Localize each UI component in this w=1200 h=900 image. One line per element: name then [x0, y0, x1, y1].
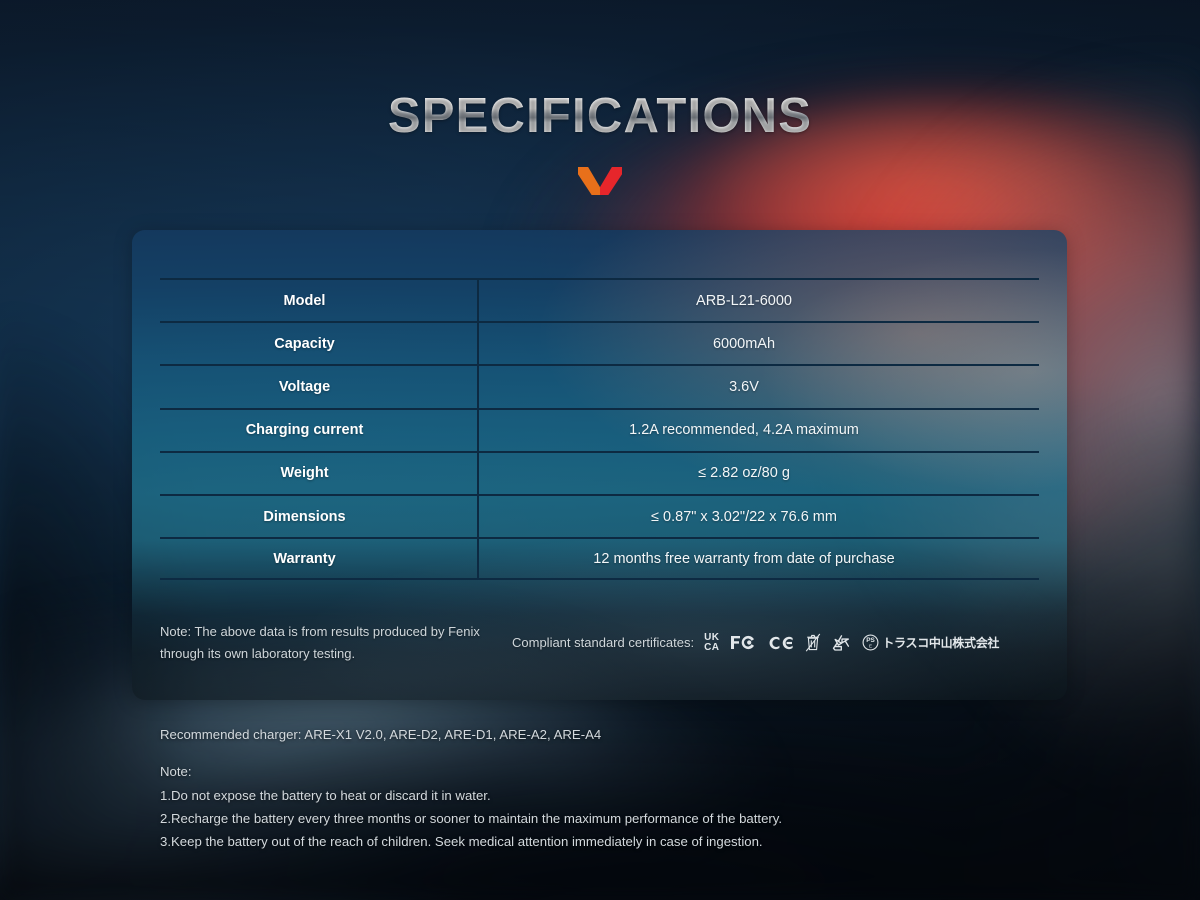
pse-trusco-group: PS E トラスコ中山株式会社 [862, 634, 999, 651]
specifications-table: Model ARB-L21-6000 Capacity 6000mAh Volt… [160, 278, 1039, 580]
note-line: 3.Keep the battery out of the reach of c… [160, 834, 1060, 849]
spec-label: Weight [160, 465, 449, 481]
table-column-divider [477, 278, 479, 580]
spec-label: Charging current [160, 422, 449, 438]
spec-value: 12 months free warranty from date of pur… [449, 551, 1039, 567]
product-spec-page: SPECIFICATIONS Model ARB-L21-6000 Capaci… [0, 0, 1200, 900]
fenix-testing-note: Note: The above data is from results pro… [160, 621, 490, 664]
recommended-charger-text: Recommended charger: ARE-X1 V2.0, ARE-D2… [160, 727, 1060, 742]
ukca-mark-icon: UK CA [704, 633, 719, 652]
weee-crossed-bin-icon [805, 633, 821, 652]
chevron-right-stroke [600, 167, 622, 195]
certificate-marks: UK CA [704, 633, 999, 652]
chevron-left-stroke [578, 167, 600, 195]
note-line: 1.Do not expose the battery to heat or d… [160, 788, 1060, 803]
certificates-label: Compliant standard certificates: [512, 635, 694, 650]
certificates-block: Compliant standard certificates: UK CA [512, 633, 999, 652]
header: SPECIFICATIONS [0, 0, 1200, 195]
bottom-notes: Recommended charger: ARE-X1 V2.0, ARE-D2… [160, 727, 1060, 857]
table-row: Model ARB-L21-6000 [160, 278, 1039, 321]
spec-label: Warranty [160, 551, 449, 567]
spec-value: 1.2A recommended, 4.2A maximum [449, 422, 1039, 438]
ukca-bottom-text: CA [704, 643, 719, 653]
recycling-mobius-icon [832, 634, 851, 652]
spec-value: 3.6V [449, 379, 1039, 395]
spec-value: 6000mAh [449, 336, 1039, 352]
spec-label: Model [160, 293, 449, 309]
fcc-mark-icon [730, 635, 756, 650]
note-line: 2.Recharge the battery every three month… [160, 811, 1060, 826]
spec-value: ≤ 0.87" x 3.02"/22 x 76.6 mm [449, 509, 1039, 525]
table-row: Dimensions ≤ 0.87" x 3.02"/22 x 76.6 mm [160, 494, 1039, 537]
specifications-panel: Model ARB-L21-6000 Capacity 6000mAh Volt… [132, 230, 1067, 700]
table-row: Capacity 6000mAh [160, 321, 1039, 364]
pse-mark-icon: PS E [862, 634, 879, 651]
table-row: Weight ≤ 2.82 oz/80 g [160, 451, 1039, 494]
table-row: Warranty 12 months free warranty from da… [160, 537, 1039, 580]
table-row: Charging current 1.2A recommended, 4.2A … [160, 408, 1039, 451]
chevron-down-icon [578, 167, 622, 195]
note-heading: Note: [160, 764, 1060, 779]
ce-mark-icon [767, 635, 794, 651]
svg-text:E: E [869, 644, 872, 649]
table-row: Voltage 3.6V [160, 364, 1039, 407]
trusco-nakayama-text: トラスコ中山株式会社 [882, 634, 999, 651]
spec-value: ARB-L21-6000 [449, 293, 1039, 309]
spec-label: Capacity [160, 336, 449, 352]
page-title: SPECIFICATIONS [0, 92, 1200, 141]
spec-label: Dimensions [160, 509, 449, 525]
spec-value: ≤ 2.82 oz/80 g [449, 465, 1039, 481]
spec-label: Voltage [160, 379, 449, 395]
panel-footer: Note: The above data is from results pro… [160, 621, 1039, 664]
